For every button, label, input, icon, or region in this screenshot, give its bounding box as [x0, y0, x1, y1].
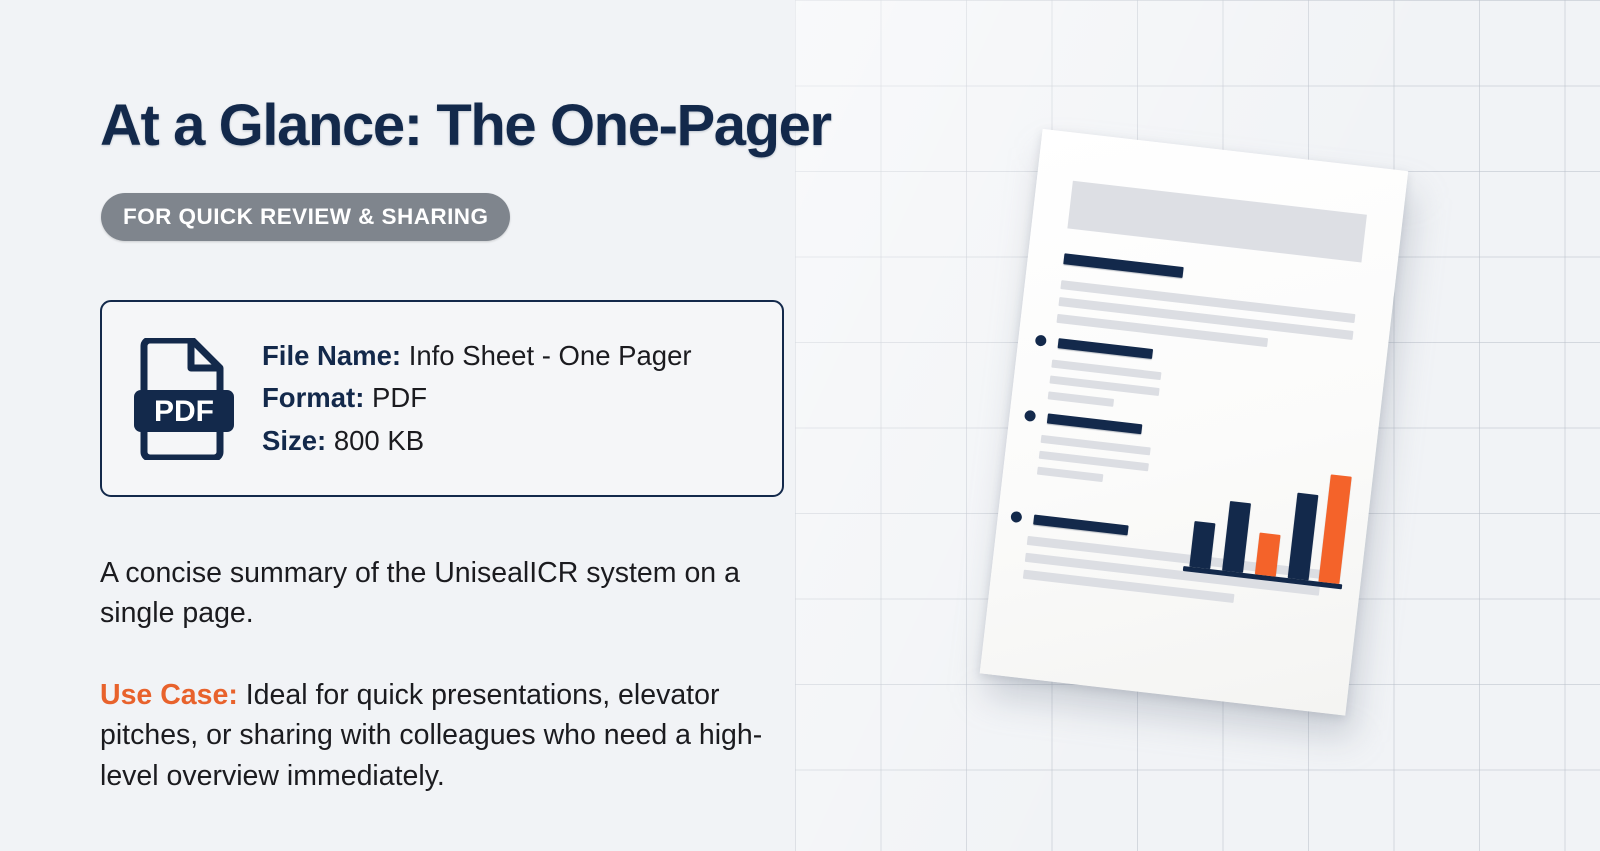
pdf-icon-label: PDF	[154, 395, 214, 428]
file-meta-value-filename: Info Sheet - One Pager	[409, 340, 692, 371]
status-badge: FOR QUICK REVIEW & SHARING	[101, 193, 510, 241]
chart-bar	[1222, 501, 1251, 573]
chart-bar	[1288, 493, 1319, 581]
file-meta-label-filename: File Name:	[262, 340, 401, 371]
file-meta-row-size: Size: 800 KB	[262, 423, 692, 460]
use-case-label: Use Case:	[100, 679, 238, 711]
file-meta-label-format: Format:	[262, 382, 364, 413]
document-bullet-heading	[1058, 338, 1154, 359]
document-text-line	[1048, 391, 1114, 407]
file-meta-row-filename: File Name: Info Sheet - One Pager	[262, 338, 692, 375]
pdf-file-icon: PDF	[134, 338, 234, 460]
document-illustration	[976, 129, 1440, 751]
file-meta-value-size: 800 KB	[334, 425, 424, 456]
file-meta-list: File Name: Info Sheet - One Pager Format…	[262, 338, 692, 460]
document-bullet-dot	[1010, 511, 1022, 523]
document-bullet-heading	[1033, 515, 1129, 536]
chart-bar	[1255, 533, 1281, 577]
left-content-column: At a Glance: The One-Pager FOR QUICK REV…	[100, 0, 790, 851]
document-page	[980, 129, 1409, 716]
document-bullet-dot	[1024, 410, 1036, 422]
document-bar-chart	[1183, 445, 1357, 591]
slide-root: At a Glance: The One-Pager FOR QUICK REV…	[0, 0, 1600, 851]
document-bullet-heading	[1047, 413, 1143, 434]
status-badge-label: FOR QUICK REVIEW & SHARING	[123, 204, 488, 230]
document-header-band	[1067, 181, 1367, 263]
document-bullet-dot	[1035, 335, 1047, 347]
file-meta-value-format: PDF	[372, 382, 427, 413]
description-block: A concise summary of the UnisealICR syst…	[100, 553, 780, 796]
file-info-card[interactable]: PDF File Name: Info Sheet - One Pager Fo…	[100, 300, 784, 497]
document-heading-bar	[1063, 253, 1183, 278]
summary-paragraph: A concise summary of the UnisealICR syst…	[100, 553, 780, 634]
chart-bar	[1318, 474, 1351, 584]
use-case-paragraph: Use Case: Ideal for quick presentations,…	[100, 675, 780, 796]
file-meta-row-format: Format: PDF	[262, 380, 692, 417]
chart-bar	[1189, 521, 1215, 569]
document-text-line	[1037, 467, 1103, 483]
page-title: At a Glance: The One-Pager	[100, 96, 831, 157]
file-meta-label-size: Size:	[262, 425, 326, 456]
